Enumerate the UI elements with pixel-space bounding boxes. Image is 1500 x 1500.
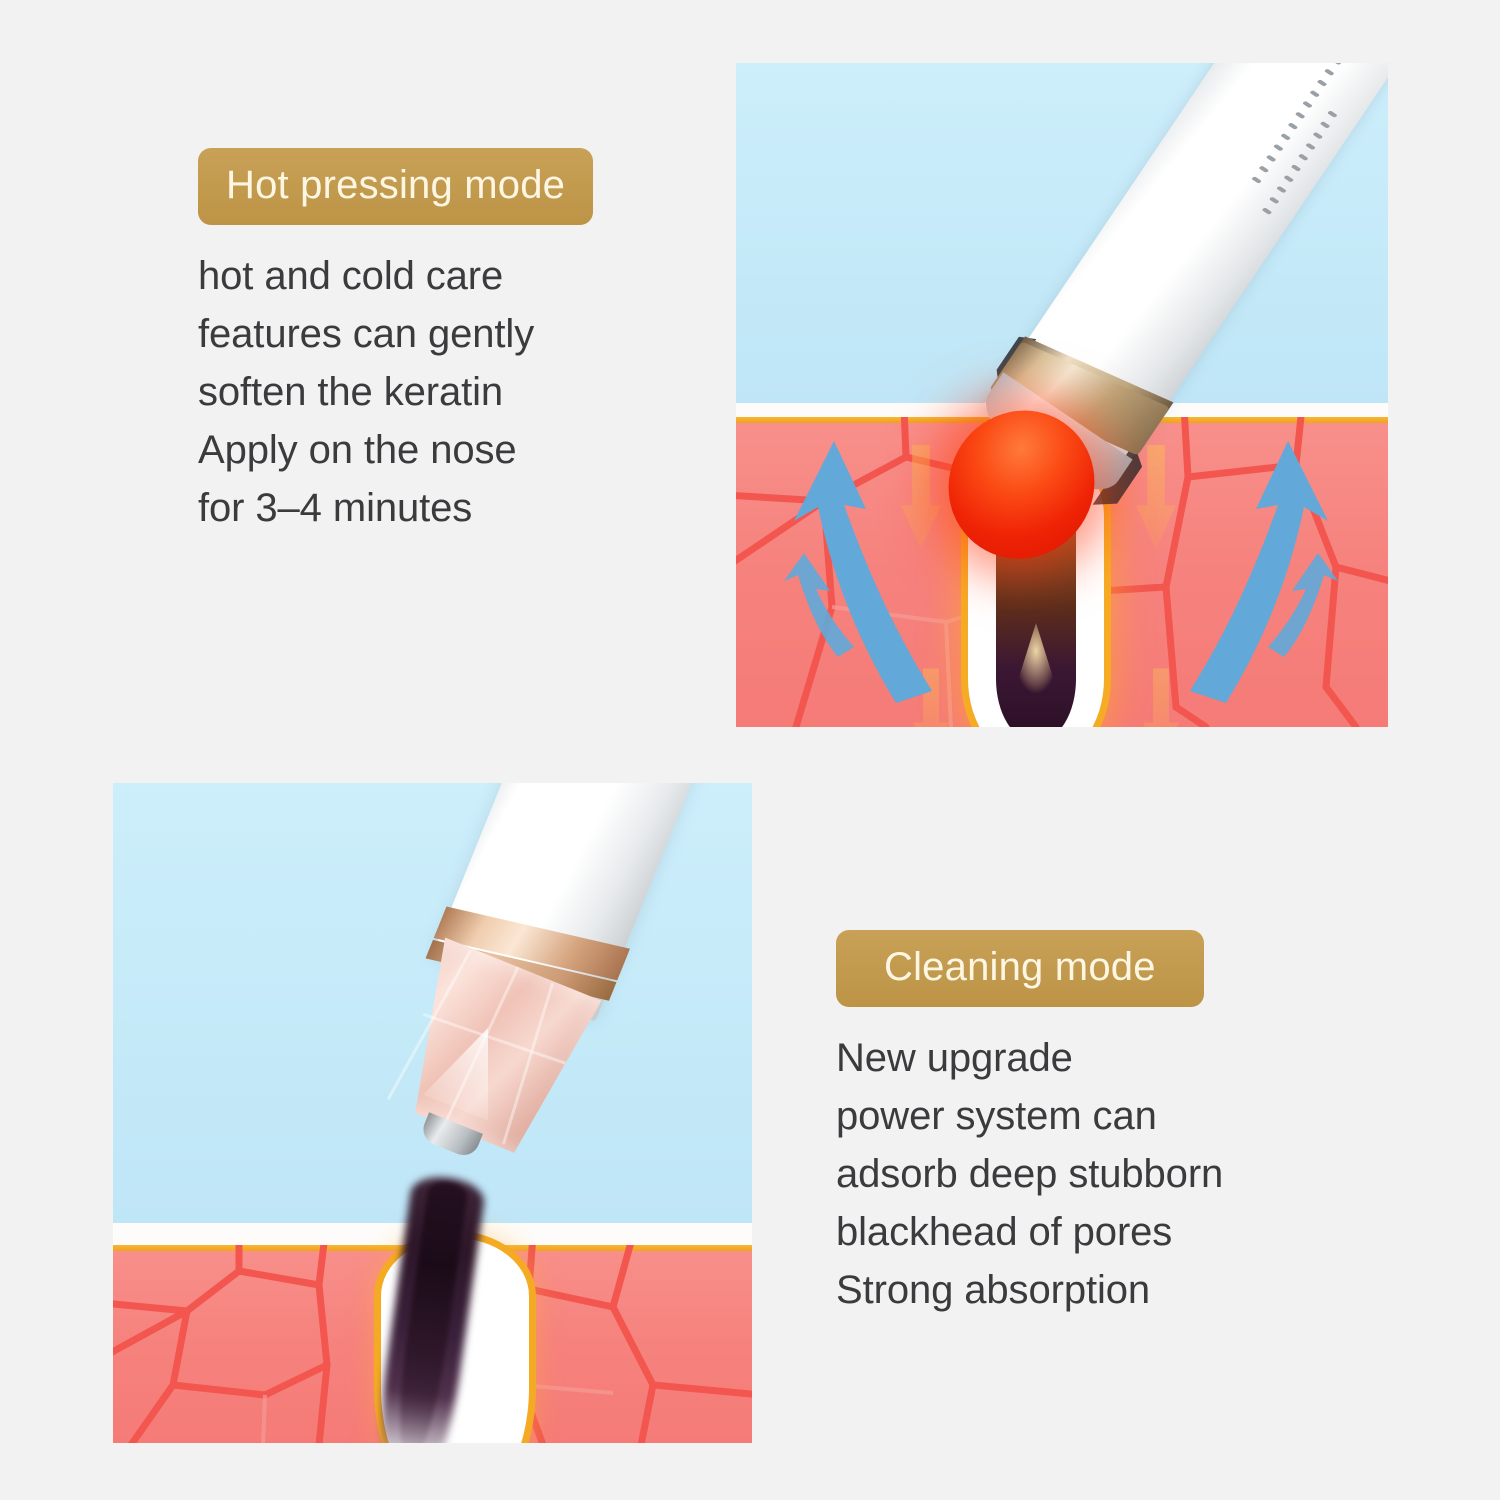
cleaning-illustration: 00:20 ▣ ▮ ◫	[113, 783, 752, 1443]
hot-pressing-mode-badge: Hot pressing mode	[198, 148, 593, 225]
description-line: for 3–4 minutes	[198, 479, 668, 537]
description-line: Apply on the nose	[198, 421, 668, 479]
cleaning-mode-badge: Cleaning mode	[836, 930, 1204, 1007]
description-line: Strong absorption	[836, 1261, 1356, 1319]
cleaning-text-block: Cleaning mode New upgrade power system c…	[836, 930, 1356, 1319]
description-line: features can gently	[198, 305, 668, 363]
product-feature-page: Hot pressing mode hot and cold care feat…	[0, 0, 1500, 1500]
hot-pressing-text-block: Hot pressing mode hot and cold care feat…	[198, 148, 668, 537]
description-line: adsorb deep stubborn	[836, 1145, 1356, 1203]
hot-pressing-description: hot and cold care features can gently so…	[198, 247, 668, 537]
cleaning-description: New upgrade power system can adsorb deep…	[836, 1029, 1356, 1319]
description-line: soften the keratin	[198, 363, 668, 421]
description-line: New upgrade	[836, 1029, 1356, 1087]
description-line: blackhead of pores	[836, 1203, 1356, 1261]
description-line: power system can	[836, 1087, 1356, 1145]
suction-arrow-left-icon	[746, 435, 956, 727]
hot-pressing-illustration	[736, 63, 1388, 727]
suction-arrow-right-icon	[1166, 435, 1376, 727]
description-line: hot and cold care	[198, 247, 668, 305]
